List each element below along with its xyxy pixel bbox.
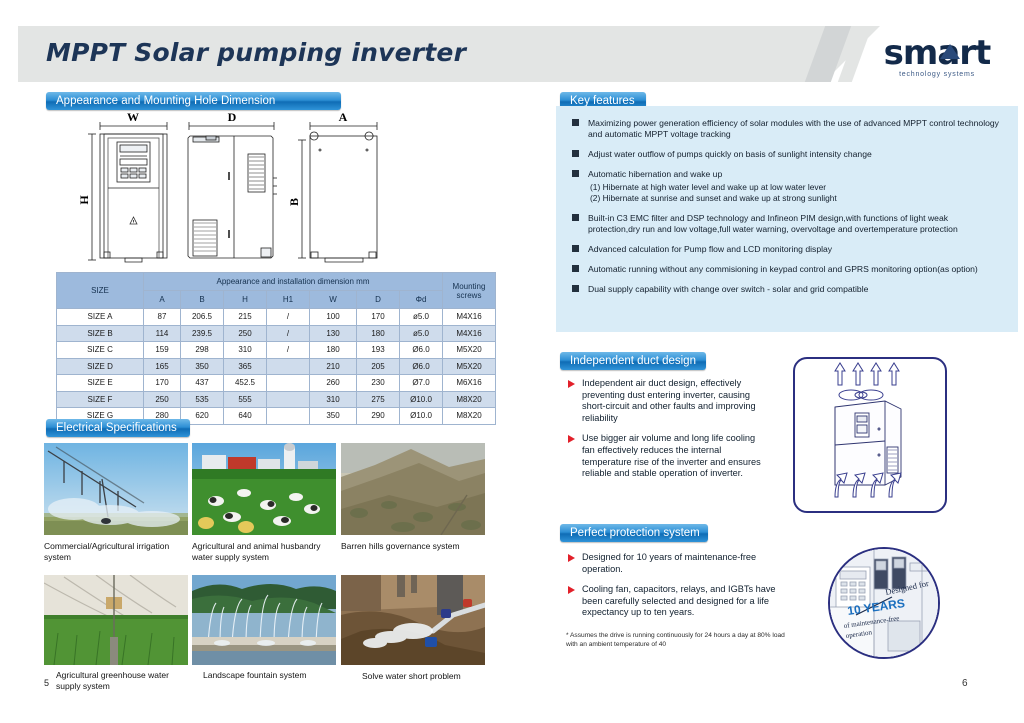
section-title-electrical: Electrical Specifications — [46, 419, 190, 437]
key-feature-text: Maximizing power generation efficiency o… — [588, 118, 999, 139]
table-cell-size: SIZE C — [57, 342, 144, 359]
ten-years-badge: Designed for 10 YEARS of maintenance-fre… — [828, 547, 940, 659]
key-features-panel: Maximizing power generation efficiency o… — [556, 106, 1018, 332]
table-cell-a: 170 — [144, 375, 181, 392]
table-cell-a: 114 — [144, 325, 181, 342]
table-cell-screws: M5X20 — [443, 358, 496, 375]
table-cell-w: 260 — [310, 375, 357, 392]
th-size: SIZE — [57, 273, 144, 309]
table-cell-size: SIZE F — [57, 391, 144, 408]
table-row: SIZE F250535555310275Ø10.0M8X20 — [57, 391, 496, 408]
duct-item: Use bigger air volume and long life cool… — [566, 433, 766, 479]
bullet-triangle-icon — [568, 380, 575, 388]
bullet-square-icon — [572, 265, 579, 272]
table-cell-d: 205 — [357, 358, 400, 375]
table-cell-screws: M5X20 — [443, 342, 496, 359]
table-cell-d: 275 — [357, 391, 400, 408]
key-feature-subitem: (1) Hibernate at high water level and wa… — [570, 182, 1002, 193]
table-row: SIZE D165350365210205Ø6.0M5X20 — [57, 358, 496, 375]
table-cell-a: 250 — [144, 391, 181, 408]
photo-caption-4: Agricultural greenhouse water supply sys… — [56, 670, 191, 691]
th-mounting-screws: Mounting screws — [443, 273, 496, 309]
label-A: A — [339, 112, 348, 124]
th-col-a: A — [144, 291, 181, 309]
th-mounting-line1: Mounting — [444, 282, 494, 291]
photo-irrigation — [44, 443, 188, 535]
company-logo: smart technology systems — [872, 36, 1002, 78]
th-col-d: D — [357, 291, 400, 309]
table-cell-b: 298 — [181, 342, 224, 359]
photo-livestock — [192, 443, 336, 535]
table-cell-w: 130 — [310, 325, 357, 342]
table-cell-phid: ø5.0 — [400, 325, 443, 342]
protection-item: Designed for 10 years of maintenance-fre… — [566, 552, 784, 575]
table-cell-d: 193 — [357, 342, 400, 359]
key-feature-item: Built-in C3 EMC filter and DSP technolog… — [570, 213, 1002, 235]
key-features-list: Maximizing power generation efficiency o… — [556, 106, 1018, 295]
photo-caption-5: Landscape fountain system — [203, 670, 343, 681]
table-cell-screws: M4X16 — [443, 325, 496, 342]
key-feature-text: Automatic running without any commisioni… — [588, 264, 978, 274]
bullet-square-icon — [572, 245, 579, 252]
table-cell-w: 210 — [310, 358, 357, 375]
bullet-square-icon — [572, 170, 579, 177]
table-cell-w: 350 — [310, 408, 357, 425]
key-feature-item: Advanced calculation for Pump flow and L… — [570, 244, 1002, 255]
protection-list: Designed for 10 years of maintenance-fre… — [566, 552, 784, 628]
brochure-page: MPPT Solar pumping inverter smart techno… — [0, 0, 1024, 723]
logo-word-text: smart — [884, 33, 991, 73]
table-cell-a: 87 — [144, 309, 181, 326]
key-feature-text: Dual supply capability with change over … — [588, 284, 868, 294]
table-cell-w: 100 — [310, 309, 357, 326]
table-cell-size: SIZE D — [57, 358, 144, 375]
bullet-triangle-icon — [568, 554, 575, 562]
protection-item: Cooling fan, capacitors, relays, and IGB… — [566, 584, 784, 619]
table-cell-h1 — [267, 375, 310, 392]
th-col-w: W — [310, 291, 357, 309]
table-row: SIZE E170437452.5260230Ø7.0M6X16 — [57, 375, 496, 392]
table-row: SIZE C159298310/180193Ø6.0M5X20 — [57, 342, 496, 359]
table-cell-phid: Ø7.0 — [400, 375, 443, 392]
table-cell-b: 437 — [181, 375, 224, 392]
label-H: H — [77, 195, 91, 205]
bullet-triangle-icon — [568, 435, 575, 443]
bullet-square-icon — [572, 150, 579, 157]
table-cell-d: 290 — [357, 408, 400, 425]
table-cell-screws: M8X20 — [443, 408, 496, 425]
table-cell-screws: M8X20 — [443, 391, 496, 408]
bullet-square-icon — [572, 285, 579, 292]
table-cell-w: 310 — [310, 391, 357, 408]
table-cell-h: 310 — [224, 342, 267, 359]
key-feature-item: Maximizing power generation efficiency o… — [570, 118, 1002, 140]
table-cell-h: 640 — [224, 408, 267, 425]
th-col-b: B — [181, 291, 224, 309]
table-cell-d: 180 — [357, 325, 400, 342]
label-W: W — [127, 112, 139, 124]
table-cell-h: 452.5 — [224, 375, 267, 392]
photo-caption-6: Solve water short problem — [362, 671, 502, 682]
duct-item-text: Use bigger air volume and long life cool… — [582, 433, 761, 478]
table-cell-b: 206.5 — [181, 309, 224, 326]
side-view-drawing — [188, 122, 277, 258]
th-group: Appearance and installation dimension mm — [144, 273, 443, 291]
duct-item: Independent air duct design, effectively… — [566, 378, 766, 424]
key-feature-item: Dual supply capability with change over … — [570, 284, 1002, 295]
protection-item-text: Cooling fan, capacitors, relays, and IGB… — [582, 584, 776, 617]
label-B: B — [287, 198, 301, 206]
th-col-phid: Φd — [400, 291, 443, 309]
duct-list: Independent air duct design, effectively… — [566, 378, 766, 489]
photo-caption-2: Agricultural and animal husbandry water … — [192, 541, 332, 562]
photo-barren-hills — [341, 443, 485, 535]
table-cell-d: 230 — [357, 375, 400, 392]
photo-greenhouse — [44, 575, 188, 665]
table-cell-h1 — [267, 408, 310, 425]
page-number-left: 5 — [44, 678, 49, 688]
table-cell-b: 350 — [181, 358, 224, 375]
key-feature-text: Advanced calculation for Pump flow and L… — [588, 244, 832, 254]
duct-illustration-frame — [793, 357, 947, 513]
table-cell-phid: Ø6.0 — [400, 358, 443, 375]
protection-footnote: * Assumes the drive is running continuou… — [566, 632, 786, 649]
bullet-square-icon — [572, 119, 579, 126]
dimension-table: SIZE Appearance and installation dimensi… — [56, 272, 496, 425]
table-cell-screws: M4X16 — [443, 309, 496, 326]
table-cell-h1: / — [267, 325, 310, 342]
th-col-h: H — [224, 291, 267, 309]
duct-item-text: Independent air duct design, effectively… — [582, 378, 756, 423]
table-cell-size: SIZE B — [57, 325, 144, 342]
bullet-triangle-icon — [568, 586, 575, 594]
back-view-drawing — [298, 122, 377, 262]
protection-item-text: Designed for 10 years of maintenance-fre… — [582, 552, 756, 574]
table-cell-h: 250 — [224, 325, 267, 342]
table-cell-h1: / — [267, 342, 310, 359]
table-cell-size: SIZE E — [57, 375, 144, 392]
section-title-appearance: Appearance and Mounting Hole Dimension — [46, 92, 341, 110]
table-cell-h: 365 — [224, 358, 267, 375]
table-cell-b: 535 — [181, 391, 224, 408]
logo-triangle-icon — [940, 44, 960, 59]
bullet-square-icon — [572, 214, 579, 221]
section-title-duct: Independent duct design — [560, 352, 706, 370]
table-cell-size: SIZE A — [57, 309, 144, 326]
front-view-drawing — [88, 122, 167, 262]
table-cell-h: 555 — [224, 391, 267, 408]
photo-caption-1: Commercial/Agricultural irrigation syste… — [44, 541, 184, 562]
table-cell-phid: Ø10.0 — [400, 408, 443, 425]
photo-water-pipe — [341, 575, 485, 665]
duct-airflow-drawing — [795, 359, 941, 507]
key-feature-text: Adjust water outflow of pumps quickly on… — [588, 149, 872, 159]
table-row: SIZE A87206.5215/100170ø5.0M4X16 — [57, 309, 496, 326]
label-D: D — [228, 112, 237, 124]
key-feature-item: Automatic running without any commisioni… — [570, 264, 1002, 275]
table-cell-d: 170 — [357, 309, 400, 326]
table-cell-h: 215 — [224, 309, 267, 326]
table-cell-a: 159 — [144, 342, 181, 359]
table-cell-w: 180 — [310, 342, 357, 359]
th-mounting-line2: screws — [444, 291, 494, 300]
page-title: MPPT Solar pumping inverter — [46, 38, 466, 67]
key-feature-item: Automatic hibernation and wake up — [570, 169, 1002, 180]
page-number: 6 — [962, 678, 968, 689]
table-cell-h1 — [267, 358, 310, 375]
photo-fountain — [192, 575, 336, 665]
table-cell-phid: Ø6.0 — [400, 342, 443, 359]
dimension-table-body: SIZE A87206.5215/100170ø5.0M4X16SIZE B11… — [57, 309, 496, 425]
key-feature-text: Automatic hibernation and wake up — [588, 169, 722, 179]
key-feature-subitem: (2) Hibernate at sunrise and sunset and … — [570, 193, 1002, 204]
table-cell-h1 — [267, 391, 310, 408]
table-cell-phid: Ø10.0 — [400, 391, 443, 408]
table-cell-b: 239.5 — [181, 325, 224, 342]
key-feature-text: Built-in C3 EMC filter and DSP technolog… — [588, 213, 958, 234]
logo-wordmark: smart — [884, 36, 991, 70]
table-cell-screws: M6X16 — [443, 375, 496, 392]
dimension-drawings: W D A H B — [62, 112, 402, 267]
table-row: SIZE B114239.5250/130180ø5.0M4X16 — [57, 325, 496, 342]
photo-caption-3: Barren hills governance system — [341, 541, 487, 552]
key-feature-item: Adjust water outflow of pumps quickly on… — [570, 149, 1002, 160]
table-cell-a: 165 — [144, 358, 181, 375]
table-cell-h1: / — [267, 309, 310, 326]
th-col-h1: H1 — [267, 291, 310, 309]
section-title-protection: Perfect protection system — [560, 524, 708, 542]
table-cell-phid: ø5.0 — [400, 309, 443, 326]
